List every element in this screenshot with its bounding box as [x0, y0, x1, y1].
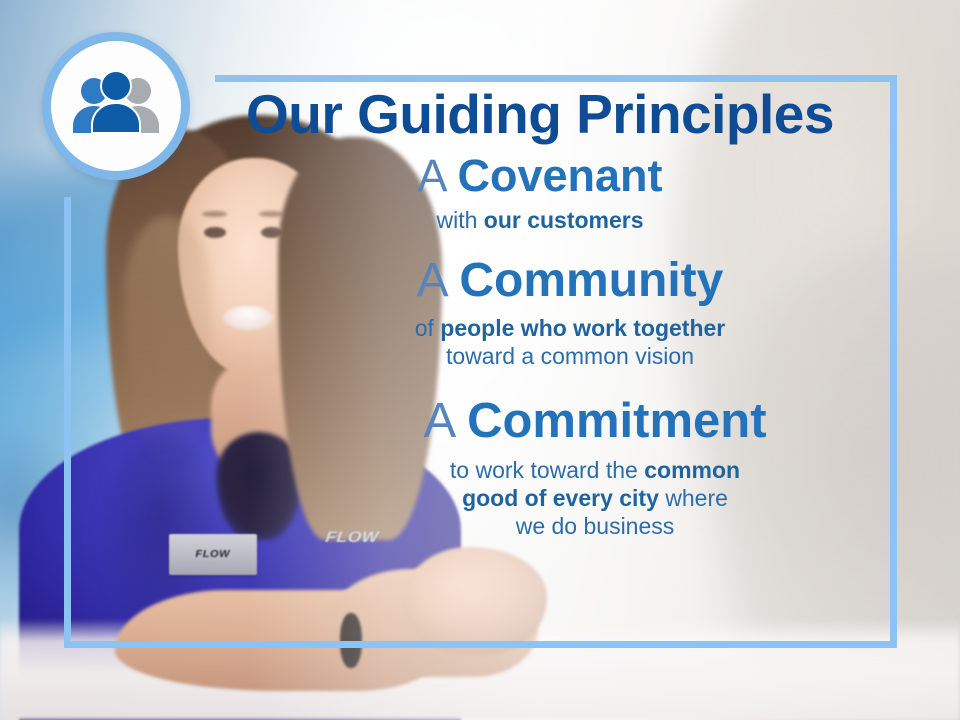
- people-group-icon: [70, 72, 162, 140]
- principle-community: A Community of people who work together …: [190, 256, 890, 370]
- frame-left-edge: [64, 197, 71, 648]
- principle-covenant: A Covenant with our customers: [190, 152, 890, 234]
- subtext-segment: where: [659, 485, 728, 511]
- people-badge: [42, 32, 190, 180]
- subtext-segment-bold: good of every city: [462, 485, 659, 511]
- principle-subtext-line: toward a common vision: [250, 342, 890, 370]
- subtext-segment-bold: people who work together: [440, 315, 725, 341]
- principle-keyword: Commitment: [467, 394, 766, 448]
- principle-subtext-line: with our customers: [190, 206, 890, 234]
- principle-subtext: of people who work together toward a com…: [250, 314, 890, 370]
- frame-bottom-edge: [64, 641, 897, 648]
- page-title: Our Guiding Principles: [190, 86, 890, 142]
- principle-article: A: [417, 254, 460, 307]
- principle-heading: A Covenant: [190, 152, 890, 200]
- principle-heading: A Community: [250, 256, 890, 307]
- principle-subtext-line: of people who work together: [250, 314, 890, 342]
- principle-subtext-line: good of every city where: [300, 484, 890, 512]
- frame-top-edge: [215, 75, 897, 82]
- subtext-segment-bold: common: [644, 457, 740, 483]
- principle-heading: A Commitment: [300, 396, 890, 448]
- subtext-segment: of: [415, 315, 441, 341]
- principle-subtext-line: to work toward the common: [300, 456, 890, 484]
- guiding-principles-graphic: FLOW FLOW Our Guiding Principles: [0, 0, 960, 720]
- subtext-segment: we do business: [516, 513, 675, 539]
- subtext-segment: with: [436, 207, 483, 233]
- text-content: Our Guiding Principles A Covenant with o…: [190, 86, 890, 540]
- frame-right-edge: [890, 75, 897, 648]
- principle-keyword: Community: [459, 254, 723, 307]
- principle-keyword: Covenant: [458, 150, 663, 201]
- subtext-segment: toward a common vision: [446, 343, 694, 369]
- subtext-segment-bold: our customers: [484, 207, 644, 233]
- principle-subtext: to work toward the common good of every …: [300, 456, 890, 540]
- principle-commitment: A Commitment to work toward the common g…: [190, 396, 890, 540]
- principle-article: A: [417, 150, 457, 201]
- principle-article: A: [423, 394, 467, 448]
- subtext-segment: to work toward the: [450, 457, 644, 483]
- principle-subtext: with our customers: [190, 206, 890, 234]
- principle-subtext-line: we do business: [300, 512, 890, 540]
